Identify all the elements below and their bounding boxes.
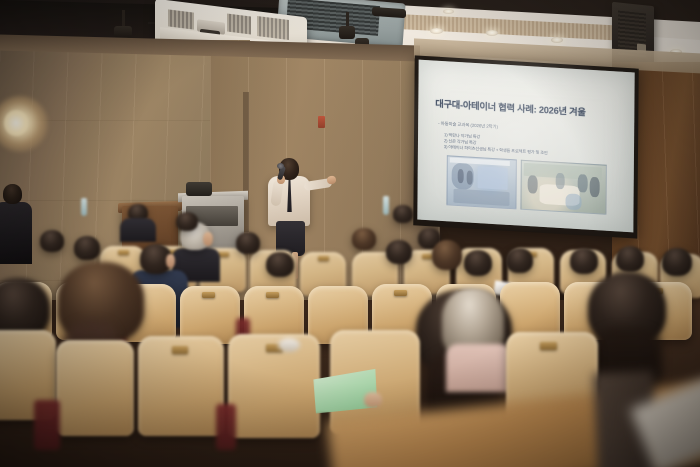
projector-vent-icon	[257, 16, 289, 40]
seat-cushion	[216, 404, 236, 450]
wall-sconce-icon	[4, 110, 28, 136]
audience-body	[446, 344, 512, 392]
seat-clip	[394, 290, 407, 296]
standing-attendant-head	[3, 184, 22, 204]
seat-clip	[202, 292, 215, 298]
audience-head	[266, 252, 294, 277]
audience-head	[236, 232, 260, 254]
audience-head	[506, 248, 533, 273]
audience-head	[176, 212, 198, 231]
slide-image-workshop	[520, 160, 606, 215]
presentation-slide: 대구대-아테이너 협력 사례: 2026년 겨울 - 아동미술 교과목 (202…	[420, 64, 631, 226]
slide-title: 대구대-아테이너 협력 사례: 2026년 겨울	[435, 99, 619, 120]
audience-head	[40, 230, 64, 252]
downlight-icon	[551, 37, 563, 43]
water-bottle	[383, 196, 389, 215]
seat-clip	[172, 346, 188, 354]
seat-clip	[318, 256, 329, 261]
seat-clip	[266, 292, 279, 298]
seat-clip	[118, 250, 129, 255]
spotlight-icon	[114, 26, 132, 38]
audience-face	[166, 254, 175, 268]
seat-clip	[540, 342, 557, 350]
projector-vent-icon	[227, 14, 251, 35]
seat-cushion	[34, 400, 60, 450]
audience-head	[352, 228, 376, 250]
downlight-icon	[486, 30, 498, 36]
wall-marker	[318, 116, 325, 128]
downlight-icon	[430, 28, 443, 34]
audience-head	[386, 240, 412, 264]
standing-attendant-body	[0, 202, 32, 264]
seat-foreground	[56, 340, 134, 436]
microphone-head-icon	[277, 163, 284, 169]
spotlight-icon	[339, 26, 355, 39]
downlight-icon	[443, 9, 454, 14]
audience-head	[570, 248, 598, 274]
audience-head	[464, 250, 492, 276]
audience-head	[616, 246, 644, 272]
audience-head	[662, 248, 692, 276]
projector-vent-icon	[168, 9, 194, 29]
slide-image-classroom	[446, 155, 516, 209]
audience-head	[393, 205, 413, 223]
seat-knob	[278, 338, 300, 352]
water-bottle	[81, 198, 87, 216]
audience-face	[203, 232, 213, 246]
hand-holding-handout	[364, 392, 382, 408]
confidence-monitor	[186, 182, 212, 196]
auditorium-presentation-photo: 대구대-아테이너 협력 사례: 2026년 겨울 - 아동미술 교과목 (202…	[0, 0, 700, 467]
audience-head	[432, 240, 462, 270]
audience-head	[74, 236, 100, 260]
audience-body	[120, 218, 156, 242]
